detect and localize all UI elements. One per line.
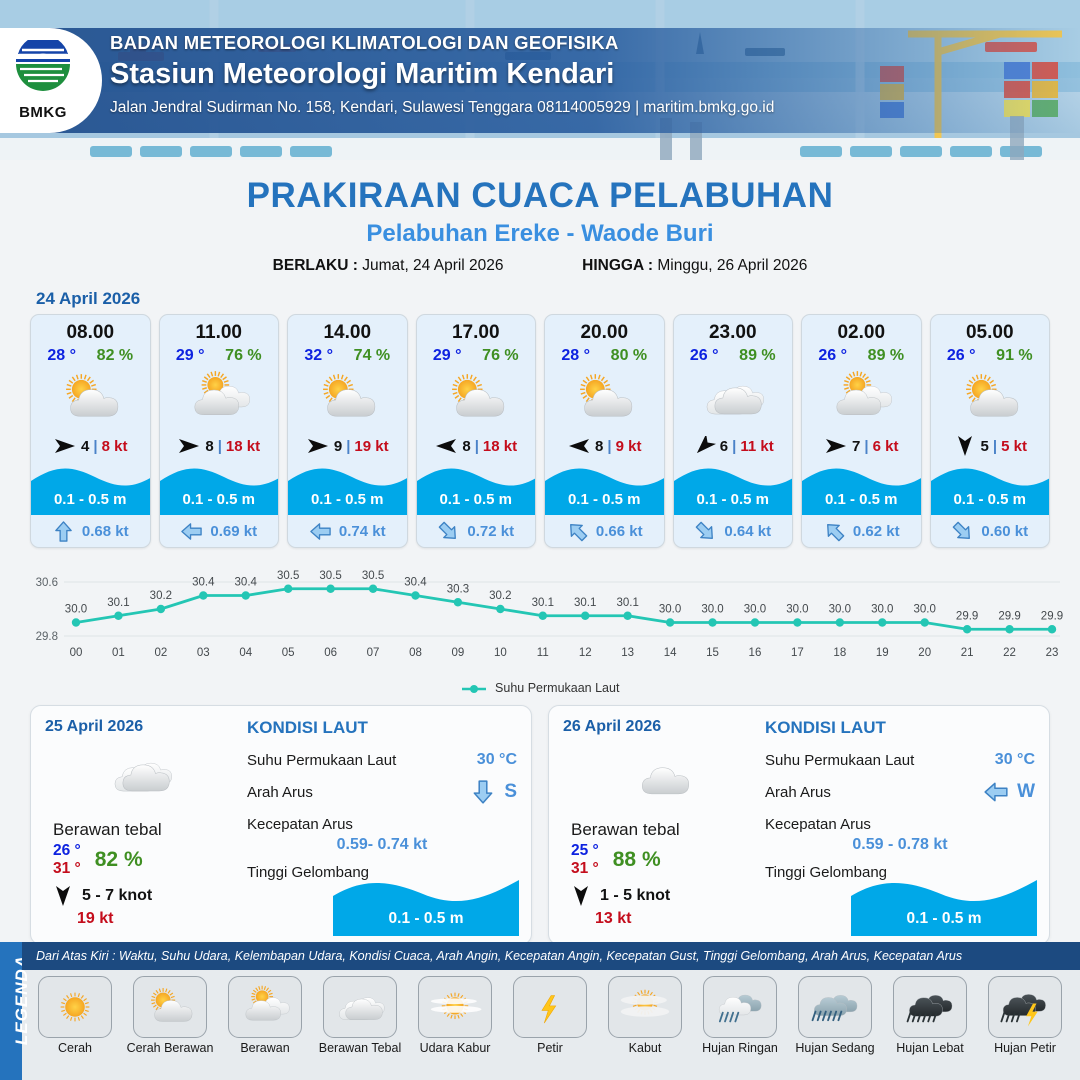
current-direction-arrow-icon: [951, 520, 974, 543]
summary-sea-conditions: KONDISI LAUT Suhu Permukaan Laut 30 °C A…: [755, 718, 1035, 934]
card-current-speed: 0.62 kt: [853, 523, 900, 540]
card-wind-separator: |: [732, 438, 736, 455]
legend-icon-box: [988, 976, 1062, 1038]
card-temperature: 28 °: [561, 347, 590, 365]
bmkg-logo-text: BMKG: [8, 104, 78, 121]
daily-summary-panel[interactable]: 26 April 2026 Berawan tebal 25 ° 31 ° 88…: [548, 705, 1050, 945]
summary-left: 25 April 2026 Berawan tebal 26 ° 31 ° 82…: [45, 718, 237, 934]
summary-humidity: 82 %: [95, 848, 143, 872]
card-wave-height: 0.1 - 0.5 m: [931, 491, 1050, 508]
summary-wind-range: 5 - 7 knot: [82, 887, 152, 905]
current-speed-value: 0.59 - 0.78 kt: [765, 836, 1035, 854]
current-direction-arrow-icon: [694, 520, 717, 543]
legend-item: Hujan Petir: [980, 976, 1070, 1055]
summary-gust: 13 kt: [563, 910, 755, 928]
svg-text:04: 04: [239, 647, 252, 659]
card-temperature: 29 °: [433, 347, 462, 365]
wind-direction-arrow-icon: [567, 436, 591, 456]
card-wind-speed: 5: [981, 438, 989, 455]
current-direction-arrow-icon: [470, 779, 496, 805]
rain-storm-icon: [996, 984, 1054, 1030]
card-current-row: 0.68 kt: [31, 515, 150, 547]
card-wind-speed: 9: [334, 438, 342, 455]
current-direction-value: W: [1017, 781, 1035, 803]
page-title: PRAKIRAAN CUACA PELABUHAN: [0, 176, 1080, 216]
card-gust: 19 kt: [354, 438, 388, 455]
sun-cloud-icon: [566, 369, 642, 427]
card-temp-humidity: 32 ° 74 %: [288, 344, 407, 365]
card-wave-height: 0.1 - 0.5 m: [545, 491, 664, 508]
legend-section: LEGENDA Dari Atas Kiri : Waktu, Suhu Uda…: [0, 942, 1080, 1080]
card-gust: 11 kt: [740, 438, 773, 455]
card-wind-speed: 8: [462, 438, 470, 455]
legend-item: Cerah: [30, 976, 120, 1055]
svg-text:17: 17: [791, 647, 804, 659]
sun-icon: [46, 984, 104, 1030]
summary-weather-icon: [563, 744, 755, 806]
svg-text:29.8: 29.8: [36, 631, 58, 643]
cloud-icon: [621, 746, 697, 804]
card-time: 14.00: [288, 315, 407, 344]
forecast-card[interactable]: 08.00 28 ° 82 % 4 | 8 kt 0.1 - 0.5 m: [30, 314, 151, 548]
card-wind-separator: |: [475, 438, 479, 455]
forecast-card-list: 08.00 28 ° 82 % 4 | 8 kt 0.1 - 0.5 m: [0, 314, 1080, 548]
card-gust: 18 kt: [226, 438, 260, 455]
card-time: 05.00: [931, 315, 1050, 344]
svg-text:15: 15: [706, 647, 719, 659]
card-wind-separator: |: [607, 438, 611, 455]
card-wind-row: 9 | 19 kt: [288, 429, 407, 463]
card-temp-humidity: 29 ° 76 %: [417, 344, 536, 365]
card-weather-icon: [545, 367, 664, 429]
card-time: 17.00: [417, 315, 536, 344]
sun-clouds-icon: [236, 984, 294, 1030]
legend-item: Hujan Sedang: [790, 976, 880, 1055]
page-header: BMKG BADAN METEOROLOGI KLIMATOLOGI DAN G…: [0, 0, 1080, 160]
card-humidity: 91 %: [996, 347, 1032, 365]
svg-text:16: 16: [749, 647, 762, 659]
sst-label: Suhu Permukaan Laut: [765, 752, 914, 769]
svg-text:30.4: 30.4: [192, 577, 215, 589]
card-temp-humidity: 29 ° 76 %: [160, 344, 279, 365]
card-humidity: 89 %: [868, 347, 904, 365]
card-humidity: 76 %: [482, 347, 518, 365]
current-direction-arrow-icon: [983, 779, 1009, 805]
card-current-row: 0.66 kt: [545, 515, 664, 547]
card-current-speed: 0.60 kt: [981, 523, 1028, 540]
bmkg-logo: BMKG: [0, 28, 102, 133]
card-wave-height: 0.1 - 0.5 m: [417, 491, 536, 508]
svg-text:13: 13: [621, 647, 634, 659]
agency-name: BADAN METEOROLOGI KLIMATOLOGI DAN GEOFIS…: [110, 32, 774, 54]
forecast-card[interactable]: 02.00 26 ° 89 % 7 | 6 kt 0.1 - 0.5 m: [801, 314, 922, 548]
card-temperature: 26 °: [818, 347, 847, 365]
forecast-card[interactable]: 14.00 32 ° 74 % 9 | 19 kt 0.1 - 0.5 m: [287, 314, 408, 548]
wind-direction-arrow-icon: [177, 436, 201, 456]
current-direction-label: Arah Arus: [765, 784, 831, 801]
svg-text:22: 22: [1003, 647, 1016, 659]
card-wave: 0.1 - 0.5 m: [31, 463, 150, 515]
wind-direction-arrow-icon: [569, 886, 593, 906]
forecast-card[interactable]: 23.00 26 ° 89 % 6 | 11 kt 0.1 - 0.5 m: [673, 314, 794, 548]
header-text-block: BADAN METEOROLOGI KLIMATOLOGI DAN GEOFIS…: [110, 32, 774, 117]
svg-text:18: 18: [833, 647, 846, 659]
card-humidity: 80 %: [611, 347, 647, 365]
sst-row: Suhu Permukaan Laut 30 °C: [765, 744, 1035, 776]
card-temp-humidity: 26 ° 89 %: [802, 344, 921, 365]
svg-text:03: 03: [197, 647, 210, 659]
page-subtitle: Pelabuhan Ereke - Waode Buri: [0, 220, 1080, 248]
card-current-row: 0.69 kt: [160, 515, 279, 547]
sun-cloud-icon: [141, 984, 199, 1030]
current-direction-arrow-icon: [566, 520, 589, 543]
sun-cloud-icon: [438, 369, 514, 427]
svg-text:29.9: 29.9: [956, 610, 978, 622]
legend-item-label: Hujan Sedang: [790, 1041, 880, 1055]
wind-direction-arrow-icon: [953, 436, 977, 456]
card-wind-row: 8 | 18 kt: [417, 429, 536, 463]
svg-text:30.0: 30.0: [914, 604, 936, 616]
wind-direction-arrow-icon: [434, 436, 458, 456]
summary-wave-box: 0.1 - 0.5 m: [851, 874, 1037, 936]
summary-left: 26 April 2026 Berawan tebal 25 ° 31 ° 88…: [563, 718, 755, 934]
svg-text:12: 12: [579, 647, 592, 659]
card-weather-icon: [31, 367, 150, 429]
card-current-speed: 0.64 kt: [724, 523, 771, 540]
card-humidity: 82 %: [97, 347, 133, 365]
summary-temp-max: 31 °: [53, 860, 81, 878]
wind-direction-arrow-icon: [306, 436, 330, 456]
card-wind-speed: 8: [205, 438, 213, 455]
svg-text:08: 08: [409, 647, 422, 659]
card-temp-humidity: 28 ° 82 %: [31, 344, 150, 365]
valid-from-label: BERLAKU :: [273, 257, 358, 274]
summary-temp-min: 25 °: [571, 842, 599, 860]
valid-until-value: Minggu, 26 April 2026: [657, 257, 807, 274]
card-wind-separator: |: [993, 438, 997, 455]
card-gust: 6 kt: [873, 438, 899, 455]
svg-text:20: 20: [918, 647, 931, 659]
card-current-row: 0.72 kt: [417, 515, 536, 547]
current-direction-row: Arah Arus W: [765, 776, 1035, 808]
card-wave-height: 0.1 - 0.5 m: [674, 491, 793, 508]
fog-icon: [616, 984, 674, 1030]
current-speed-value: 0.59- 0.74 kt: [247, 836, 517, 854]
card-temperature: 26 °: [690, 347, 719, 365]
sst-row: Suhu Permukaan Laut 30 °C: [247, 744, 517, 776]
card-wave: 0.1 - 0.5 m: [417, 463, 536, 515]
card-time: 08.00: [31, 315, 150, 344]
legend-icon-box: [228, 976, 302, 1038]
legend-icon-box: [38, 976, 112, 1038]
summary-wind-row: 1 - 5 knot: [563, 886, 755, 906]
sun-cloud-icon: [309, 369, 385, 427]
legend-icon-box: [893, 976, 967, 1038]
legend-item-label: Berawan Tebal: [315, 1041, 405, 1055]
svg-text:30.6: 30.6: [36, 577, 58, 589]
summary-date: 25 April 2026: [45, 718, 237, 736]
card-wave-height: 0.1 - 0.5 m: [160, 491, 279, 508]
clouds-icon: [103, 746, 179, 804]
card-wind-row: 8 | 18 kt: [160, 429, 279, 463]
card-weather-icon: [160, 367, 279, 429]
summary-temp-max: 31 °: [571, 860, 599, 878]
card-wind-separator: |: [93, 438, 97, 455]
svg-text:30.5: 30.5: [319, 570, 341, 582]
card-temperature: 26 °: [947, 347, 976, 365]
current-direction-arrow-icon: [823, 520, 846, 543]
summary-wave-box: 0.1 - 0.5 m: [333, 874, 519, 936]
svg-text:30.0: 30.0: [871, 604, 893, 616]
summary-temps: 26 ° 31 ° 82 %: [45, 842, 237, 878]
sea-section-title: KONDISI LAUT: [247, 718, 517, 738]
chart-legend-label: Suhu Permukaan Laut: [495, 681, 619, 695]
current-speed-label: Kecepatan Arus: [765, 816, 871, 833]
card-wind-separator: |: [864, 438, 868, 455]
title-block: PRAKIRAAN CUACA PELABUHAN Pelabuhan Erek…: [0, 176, 1080, 275]
svg-text:30.0: 30.0: [829, 604, 851, 616]
card-wave: 0.1 - 0.5 m: [545, 463, 664, 515]
card-weather-icon: [802, 367, 921, 429]
card-current-speed: 0.68 kt: [82, 523, 129, 540]
sun-clouds-icon: [823, 369, 899, 427]
svg-text:29.9: 29.9: [1041, 610, 1063, 622]
bmkg-emblem-icon: [12, 40, 74, 98]
legend-item-label: Berawan: [220, 1041, 310, 1055]
card-gust: 8 kt: [102, 438, 128, 455]
forecast-card[interactable]: 05.00 26 ° 91 % 5 | 5 kt 0.1 - 0.5 m: [930, 314, 1051, 548]
legend-icon-box: [608, 976, 682, 1038]
card-wind-row: 7 | 6 kt: [802, 429, 921, 463]
legend-icon-box: [418, 976, 492, 1038]
legend-side-strip: LEGENDA: [0, 942, 22, 1080]
current-direction-value-wrap: W: [983, 779, 1035, 805]
svg-text:09: 09: [452, 647, 465, 659]
forecast-card[interactable]: 20.00 28 ° 80 % 8 | 9 kt 0.1 - 0.5 m: [544, 314, 665, 548]
clouds-icon: [695, 369, 771, 427]
summary-condition: Berawan tebal: [563, 820, 755, 840]
summary-date: 26 April 2026: [563, 718, 755, 736]
card-wave: 0.1 - 0.5 m: [674, 463, 793, 515]
card-time: 23.00: [674, 315, 793, 344]
summary-humidity: 88 %: [613, 848, 661, 872]
sst-value: 30 °C: [995, 751, 1035, 769]
valid-from-value: Jumat, 24 April 2026: [362, 257, 503, 274]
lightning-icon: [521, 984, 579, 1030]
sst-value: 30 °C: [477, 751, 517, 769]
legend-icon-box: [513, 976, 587, 1038]
legend-icon-box: [133, 976, 207, 1038]
legend-item: Cerah Berawan: [125, 976, 215, 1055]
card-current-row: 0.74 kt: [288, 515, 407, 547]
svg-text:30.5: 30.5: [277, 570, 299, 582]
card-gust: 5 kt: [1001, 438, 1027, 455]
svg-text:21: 21: [961, 647, 974, 659]
current-direction-arrow-icon: [52, 520, 75, 543]
card-current-speed: 0.72 kt: [467, 523, 514, 540]
svg-text:30.4: 30.4: [235, 577, 258, 589]
svg-text:30.1: 30.1: [107, 597, 129, 609]
legend-item: Udara Kabur: [410, 976, 500, 1055]
card-weather-icon: [931, 367, 1050, 429]
legend-item-label: Petir: [505, 1041, 595, 1055]
forecast-day-label: 24 April 2026: [36, 289, 1080, 309]
sst-label: Suhu Permukaan Laut: [247, 752, 396, 769]
svg-text:30.2: 30.2: [489, 590, 511, 602]
card-gust: 18 kt: [483, 438, 517, 455]
card-current-speed: 0.69 kt: [210, 523, 257, 540]
summary-sea-conditions: KONDISI LAUT Suhu Permukaan Laut 30 °C A…: [237, 718, 517, 934]
current-direction-arrow-icon: [309, 520, 332, 543]
legend-caption: Dari Atas Kiri : Waktu, Suhu Udara, Kele…: [22, 942, 1080, 970]
card-temperature: 28 °: [47, 347, 76, 365]
card-current-speed: 0.66 kt: [596, 523, 643, 540]
card-temp-humidity: 26 ° 89 %: [674, 344, 793, 365]
current-direction-value: S: [504, 781, 517, 803]
svg-text:23: 23: [1046, 647, 1059, 659]
svg-text:30.3: 30.3: [447, 583, 469, 595]
legend-item: Berawan: [220, 976, 310, 1055]
card-time: 20.00: [545, 315, 664, 344]
forecast-card[interactable]: 17.00 29 ° 76 % 8 | 18 kt 0.1 - 0.5 m: [416, 314, 537, 548]
card-temperature: 29 °: [176, 347, 205, 365]
card-wind-speed: 6: [720, 438, 728, 455]
svg-text:30.0: 30.0: [786, 604, 808, 616]
legend-item-label: Hujan Ringan: [695, 1041, 785, 1055]
station-contact: Jalan Jendral Sudirman No. 158, Kendari,…: [110, 99, 774, 117]
svg-text:19: 19: [876, 647, 889, 659]
current-direction-arrow-icon: [180, 520, 203, 543]
card-temp-humidity: 26 ° 91 %: [931, 344, 1050, 365]
svg-text:30.1: 30.1: [532, 597, 554, 609]
current-speed-label: Kecepatan Arus: [247, 816, 353, 833]
clouds-icon: [331, 984, 389, 1030]
card-wave: 0.1 - 0.5 m: [931, 463, 1050, 515]
card-current-row: 0.60 kt: [931, 515, 1050, 547]
sun-cloud-icon: [952, 369, 1028, 427]
card-temp-humidity: 28 ° 80 %: [545, 344, 664, 365]
svg-text:30.0: 30.0: [701, 604, 723, 616]
summary-wave-height: 0.1 - 0.5 m: [333, 910, 519, 928]
valid-until-label: HINGGA :: [582, 257, 653, 274]
sun-clouds-icon: [181, 369, 257, 427]
legend-icon-list: Cerah Cerah Berawan Berawan Berawan Teba…: [30, 976, 1070, 1055]
card-current-row: 0.62 kt: [802, 515, 921, 547]
card-time: 02.00: [802, 315, 921, 344]
card-wind-speed: 7: [852, 438, 860, 455]
svg-text:29.9: 29.9: [998, 610, 1020, 622]
legend-item: Hujan Ringan: [695, 976, 785, 1055]
card-wind-row: 5 | 5 kt: [931, 429, 1050, 463]
svg-text:10: 10: [494, 647, 507, 659]
summary-temps: 25 ° 31 ° 88 %: [563, 842, 755, 878]
haze-icon: [426, 984, 484, 1030]
current-direction-label: Arah Arus: [247, 784, 313, 801]
svg-text:14: 14: [664, 647, 677, 659]
svg-text:30.0: 30.0: [65, 604, 87, 616]
sun-cloud-icon: [52, 369, 128, 427]
svg-text:01: 01: [112, 647, 125, 659]
card-wind-row: 6 | 11 kt: [674, 429, 793, 463]
legend-item-label: Udara Kabur: [410, 1041, 500, 1055]
sst-chart-svg: 30.629.830.00030.10130.20230.40330.40430…: [14, 564, 1066, 679]
rain-moderate-icon: [806, 984, 864, 1030]
card-weather-icon: [417, 367, 536, 429]
svg-text:07: 07: [367, 647, 380, 659]
summary-temp-min: 26 °: [53, 842, 81, 860]
card-time: 11.00: [160, 315, 279, 344]
card-wave-height: 0.1 - 0.5 m: [802, 491, 921, 508]
legend-item-label: Cerah Berawan: [125, 1041, 215, 1055]
chart-legend: Suhu Permukaan Laut: [0, 681, 1080, 695]
svg-text:30.1: 30.1: [574, 597, 596, 609]
svg-text:30.0: 30.0: [744, 604, 766, 616]
card-wind-speed: 4: [81, 438, 89, 455]
daily-summary-panel[interactable]: 25 April 2026 Berawan tebal 26 ° 31 ° 82…: [30, 705, 532, 945]
legend-item: Hujan Lebat: [885, 976, 975, 1055]
svg-text:11: 11: [537, 647, 549, 659]
card-wave: 0.1 - 0.5 m: [160, 463, 279, 515]
card-wave: 0.1 - 0.5 m: [288, 463, 407, 515]
forecast-card[interactable]: 11.00 29 ° 76 % 8 | 18 kt 0.1 - 0.5 m: [159, 314, 280, 548]
legend-item: Petir: [505, 976, 595, 1055]
summary-wave-height: 0.1 - 0.5 m: [851, 910, 1037, 928]
sst-chart: 30.629.830.00030.10130.20230.40330.40430…: [14, 564, 1066, 679]
svg-text:30.4: 30.4: [404, 577, 427, 589]
current-direction-value-wrap: S: [470, 779, 517, 805]
card-weather-icon: [674, 367, 793, 429]
legend-item: Berawan Tebal: [315, 976, 405, 1055]
card-wind-separator: |: [218, 438, 222, 455]
chart-legend-swatch-icon: [461, 684, 487, 694]
rain-heavy-icon: [901, 984, 959, 1030]
daily-summary-panels: 25 April 2026 Berawan tebal 26 ° 31 ° 82…: [0, 695, 1080, 945]
summary-wind-row: 5 - 7 knot: [45, 886, 237, 906]
rain-light-icon: [711, 984, 769, 1030]
card-wind-row: 8 | 9 kt: [545, 429, 664, 463]
card-wind-separator: |: [346, 438, 350, 455]
svg-text:30.5: 30.5: [362, 570, 384, 582]
card-humidity: 76 %: [225, 347, 261, 365]
summary-wind-range: 1 - 5 knot: [600, 887, 670, 905]
summary-condition: Berawan tebal: [45, 820, 237, 840]
legend-item-label: Kabut: [600, 1041, 690, 1055]
card-wave-height: 0.1 - 0.5 m: [288, 491, 407, 508]
svg-text:30.1: 30.1: [616, 597, 638, 609]
card-temperature: 32 °: [304, 347, 333, 365]
card-current-row: 0.64 kt: [674, 515, 793, 547]
legend-icon-box: [798, 976, 872, 1038]
card-wind-row: 4 | 8 kt: [31, 429, 150, 463]
wind-direction-arrow-icon: [51, 886, 75, 906]
legend-item-label: Hujan Petir: [980, 1041, 1070, 1055]
legend-item-label: Cerah: [30, 1041, 120, 1055]
card-wave: 0.1 - 0.5 m: [802, 463, 921, 515]
wind-direction-arrow-icon: [692, 436, 716, 456]
card-wind-speed: 8: [595, 438, 603, 455]
sea-section-title: KONDISI LAUT: [765, 718, 1035, 738]
summary-gust: 19 kt: [45, 910, 237, 928]
summary-weather-icon: [45, 744, 237, 806]
legend-icon-box: [703, 976, 777, 1038]
current-direction-arrow-icon: [437, 520, 460, 543]
svg-text:06: 06: [324, 647, 337, 659]
card-weather-icon: [288, 367, 407, 429]
legend-item-label: Hujan Lebat: [885, 1041, 975, 1055]
card-gust: 9 kt: [616, 438, 642, 455]
legend-item: Kabut: [600, 976, 690, 1055]
svg-text:00: 00: [70, 647, 83, 659]
